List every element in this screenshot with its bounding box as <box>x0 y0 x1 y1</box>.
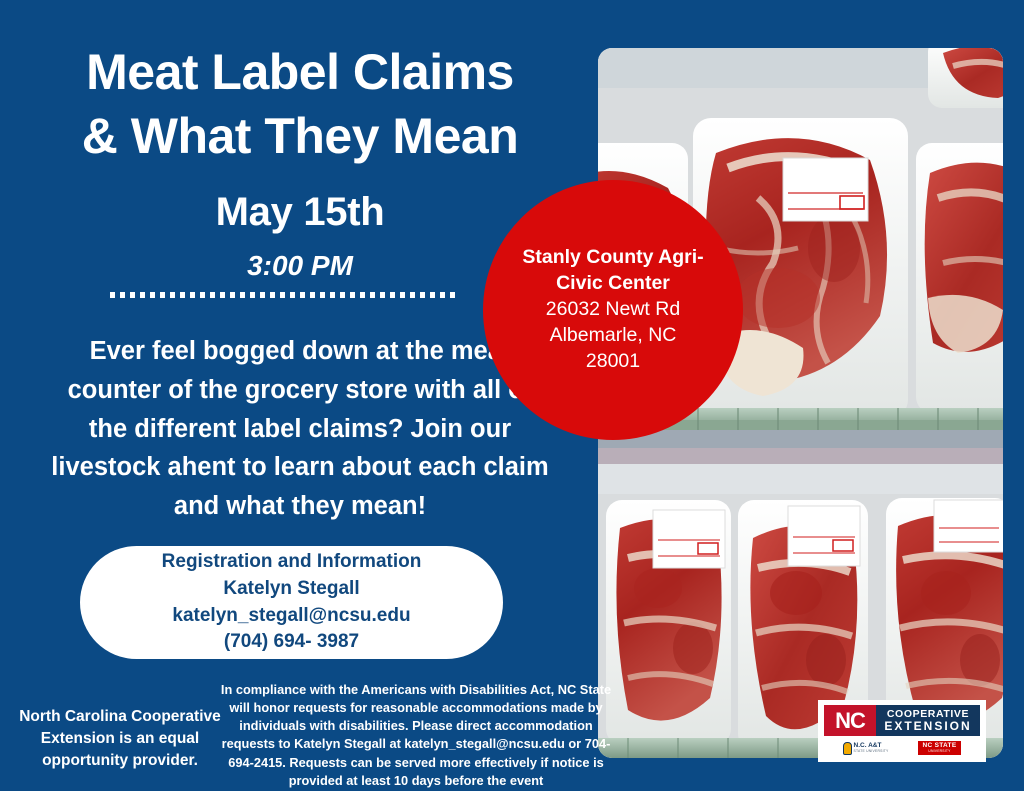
title-line-2: & What They Mean <box>0 104 600 168</box>
event-date: May 15th <box>0 190 600 235</box>
logo-wordmark: COOPERATIVE EXTENSION <box>876 705 980 736</box>
registration-email[interactable]: katelyn_stegall@ncsu.edu <box>172 603 410 630</box>
venue-badge: Stanly County Agri- Civic Center 26032 N… <box>483 180 743 440</box>
venue-street: 26032 Newt Rd <box>546 297 680 323</box>
logo-extension-text: EXTENSION <box>884 720 971 732</box>
description-line-3: the different label claims? Join our <box>22 410 578 449</box>
logo-primary-lockup: NC COOPERATIVE EXTENSION <box>824 705 980 736</box>
price-label-card <box>783 158 868 221</box>
description-line-5: and what they mean! <box>22 487 578 526</box>
poster-title: Meat Label Claims & What They Mean <box>0 40 600 168</box>
dotted-divider <box>110 292 456 298</box>
equal-opportunity-statement: North Carolina Cooperative Extension is … <box>8 706 232 772</box>
logo-nc-at-text: N.C. A&T STATE UNIVERSITY <box>854 743 889 753</box>
logo-nc-at-partner: N.C. A&T STATE UNIVERSITY <box>843 742 889 755</box>
registration-phone[interactable]: (704) 694- 3987 <box>224 629 359 656</box>
description-line-4: livestock ahent to learn about each clai… <box>22 448 578 487</box>
venue-city-state: Albemarle, NC <box>550 323 677 349</box>
registration-panel: Registration and Information Katelyn Ste… <box>80 546 503 659</box>
poster-canvas: Meat Label Claims & What They Mean May 1… <box>0 0 1024 791</box>
price-label-card <box>653 510 725 568</box>
aggie-bulldog-icon <box>843 742 852 755</box>
registration-heading: Registration and Information <box>162 549 422 576</box>
registration-contact-name: Katelyn Stegall <box>223 576 359 603</box>
logo-nc-state-partner: NC STATE UNIVERSITY <box>918 741 962 755</box>
logo-partner-row: N.C. A&T STATE UNIVERSITY NC STATE UNIVE… <box>824 738 980 758</box>
description-line-2: counter of the grocery store with all of <box>22 371 578 410</box>
logo-nc-at-sub: STATE UNIVERSITY <box>854 750 889 753</box>
ada-compliance-statement: In compliance with the Americans with Di… <box>216 681 616 790</box>
venue-name-line-2: Civic Center <box>556 271 670 297</box>
venue-zip: 28001 <box>586 349 640 375</box>
logo-nc-state-sub: UNIVERSITY <box>928 750 950 753</box>
title-line-1: Meat Label Claims <box>86 44 514 100</box>
venue-name-line-1: Stanly County Agri- <box>522 245 703 271</box>
nc-cooperative-extension-logo: NC COOPERATIVE EXTENSION N.C. A&T STATE … <box>818 700 986 762</box>
logo-nc-mark: NC <box>824 705 876 736</box>
price-label-card <box>788 506 860 566</box>
price-label-card <box>934 500 1003 552</box>
